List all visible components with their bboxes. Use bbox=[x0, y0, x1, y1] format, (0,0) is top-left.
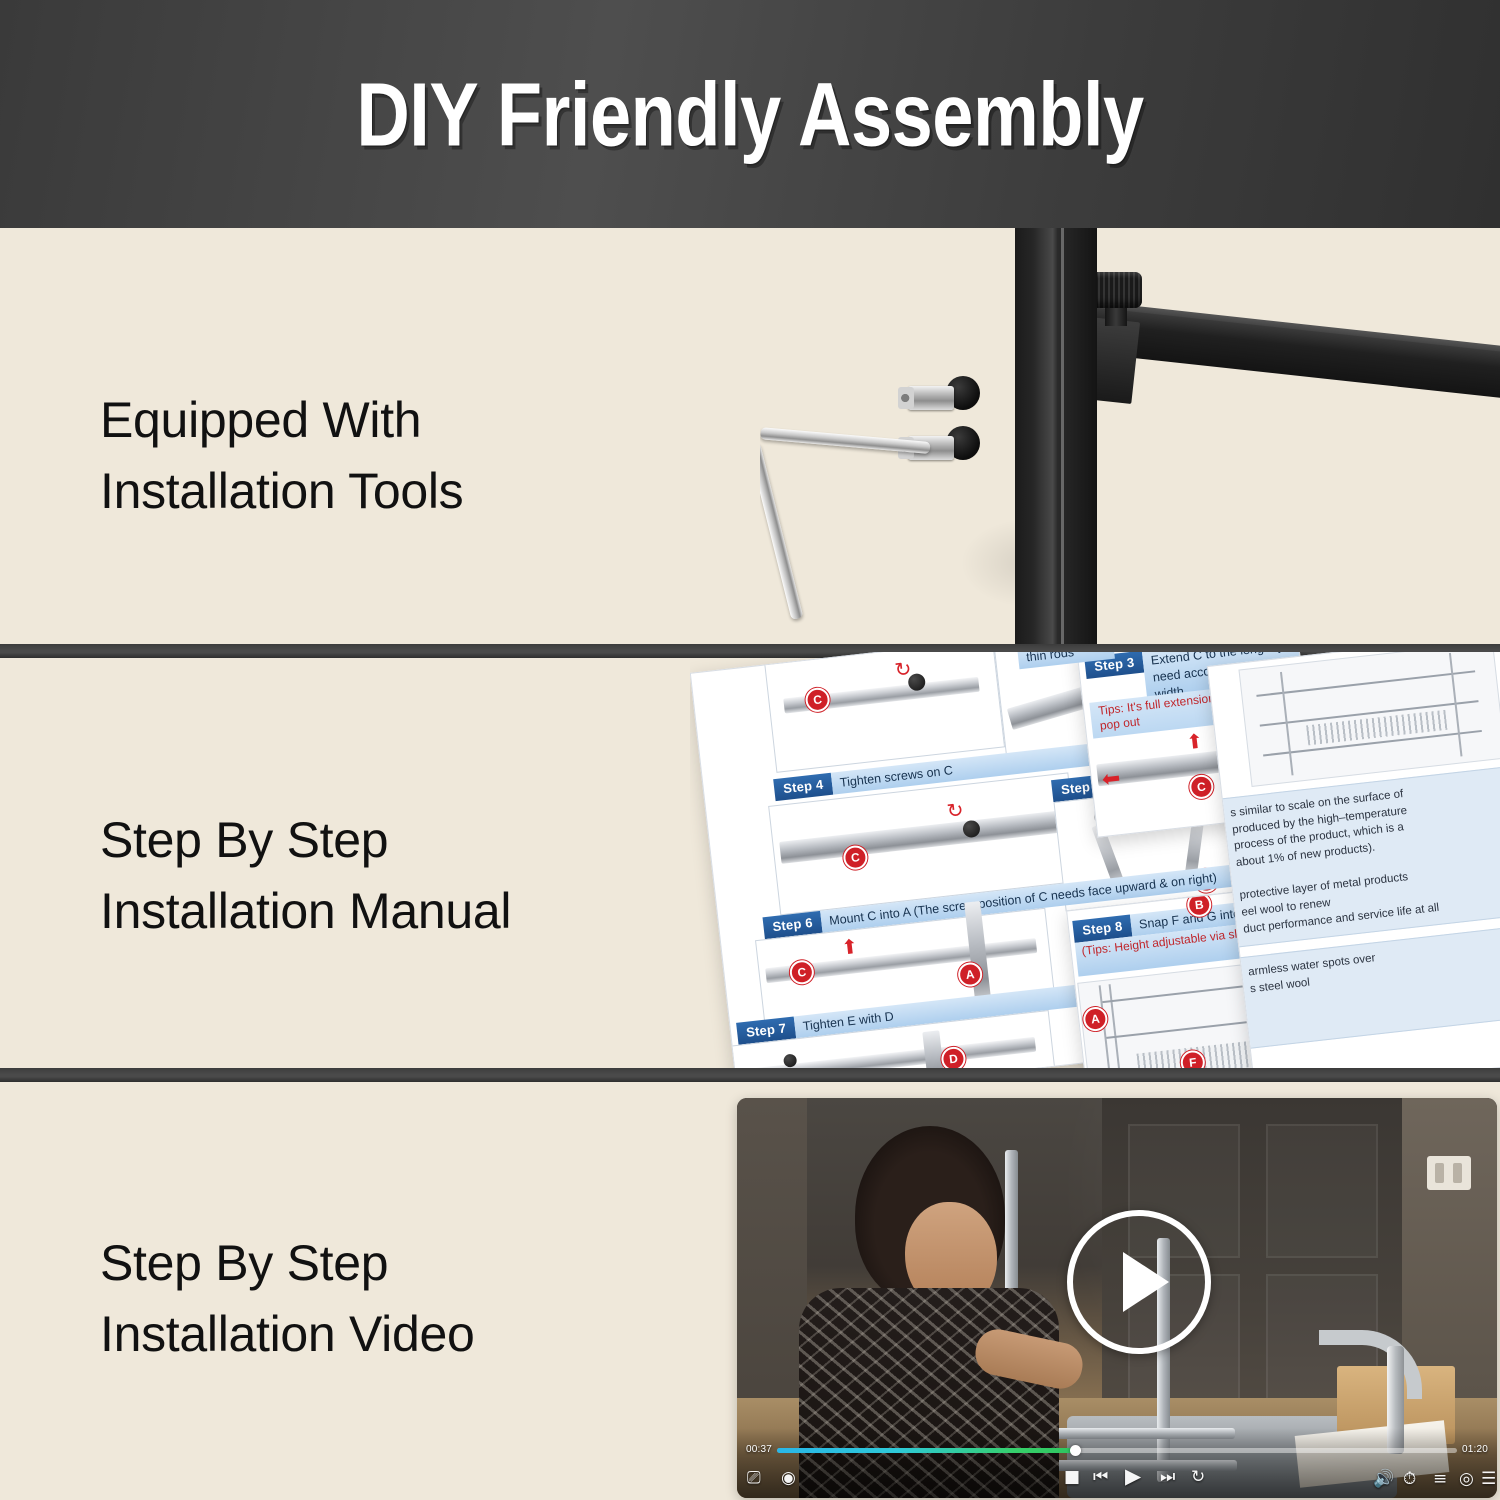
stop-icon[interactable]: ■ bbox=[1064, 1469, 1080, 1486]
section-divider-2 bbox=[0, 1068, 1500, 1082]
play-circle-icon[interactable] bbox=[1067, 1210, 1211, 1354]
rotate-arrow-1: ↻ bbox=[894, 658, 913, 680]
allen-wrench-icon bbox=[760, 427, 930, 454]
tool-photo bbox=[760, 228, 1500, 644]
replay-icon[interactable]: ↻ bbox=[1191, 1469, 1205, 1486]
video-wall-right bbox=[1402, 1098, 1497, 1398]
allen-wrench-short-leg bbox=[760, 443, 803, 621]
video-wall-outlet bbox=[1427, 1156, 1471, 1190]
manual-right-rack-photo bbox=[1238, 652, 1500, 787]
video-progress-handle[interactable] bbox=[1070, 1445, 1081, 1456]
video-total-time: 01:20 bbox=[1462, 1444, 1488, 1455]
previous-icon[interactable]: ⏮ bbox=[1093, 1469, 1108, 1486]
section-tools-label: Equipped With Installation Tools bbox=[100, 385, 463, 527]
thumb-knob bbox=[1090, 272, 1142, 308]
manual-step-tag-4: Step 4 bbox=[773, 773, 833, 801]
section-video-label: Step By Step Installation Video bbox=[100, 1228, 475, 1370]
left-arrow-1: ⬅ bbox=[1101, 768, 1122, 792]
frame-vertical-post bbox=[1015, 228, 1097, 644]
manual-photo: C ↻ D Step 4 Tighten screws on C C ↻ Ste… bbox=[690, 652, 1500, 1068]
manual-page-right: s similar to scale on the surface of pro… bbox=[1207, 652, 1500, 1068]
section-manual-label: Step By Step Installation Manual bbox=[100, 805, 511, 947]
rod-e bbox=[736, 1037, 1036, 1068]
video-progress-bar[interactable] bbox=[777, 1448, 1457, 1453]
up-arrow-1: ⬆ bbox=[840, 936, 859, 958]
marker-c-4: C bbox=[1188, 774, 1215, 801]
bolt-upper bbox=[908, 386, 954, 410]
page-title: DIY Friendly Assembly bbox=[356, 62, 1143, 166]
video-current-time: 00:37 bbox=[746, 1444, 772, 1455]
equalizer-icon[interactable]: ≡ bbox=[1433, 1471, 1447, 1488]
rod-c-2 bbox=[779, 810, 1066, 864]
menu-icon[interactable]: ☰ bbox=[1481, 1471, 1496, 1488]
video-controls-bar: 00:37 01:20 ⎚ ◉ ■ ⏮ ▶ ⏭ ↻ 🔊 ⏱ ≡ ◎ ☰ bbox=[737, 1428, 1497, 1498]
play-triangle-icon bbox=[1123, 1252, 1169, 1312]
volume-icon[interactable]: 🔊 bbox=[1373, 1471, 1394, 1488]
video-wall-left bbox=[737, 1098, 807, 1438]
screenshot-icon[interactable]: ◉ bbox=[781, 1470, 796, 1487]
page-header: DIY Friendly Assembly bbox=[0, 0, 1500, 228]
next-icon[interactable]: ⏭ bbox=[1160, 1469, 1175, 1486]
video-progress-fill bbox=[777, 1448, 1077, 1453]
speed-icon[interactable]: ⏱ bbox=[1403, 1471, 1416, 1488]
up-arrow-2: ⬆ bbox=[1185, 730, 1204, 752]
fullscreen-icon[interactable]: ◎ bbox=[1459, 1471, 1474, 1488]
knob-stem bbox=[1105, 306, 1127, 326]
frame-horizontal-bar bbox=[1078, 306, 1500, 398]
video-player[interactable]: 00:37 01:20 ⎚ ◉ ■ ⏮ ▶ ⏭ ↻ 🔊 ⏱ ≡ ◎ ☰ bbox=[737, 1098, 1497, 1498]
play-icon[interactable]: ▶ bbox=[1125, 1466, 1141, 1487]
subtitles-icon[interactable]: ⎚ bbox=[747, 1470, 761, 1487]
manual-cell-step3-illustration: C ↻ bbox=[764, 652, 1005, 773]
rotate-arrow-2: ↻ bbox=[946, 799, 965, 821]
